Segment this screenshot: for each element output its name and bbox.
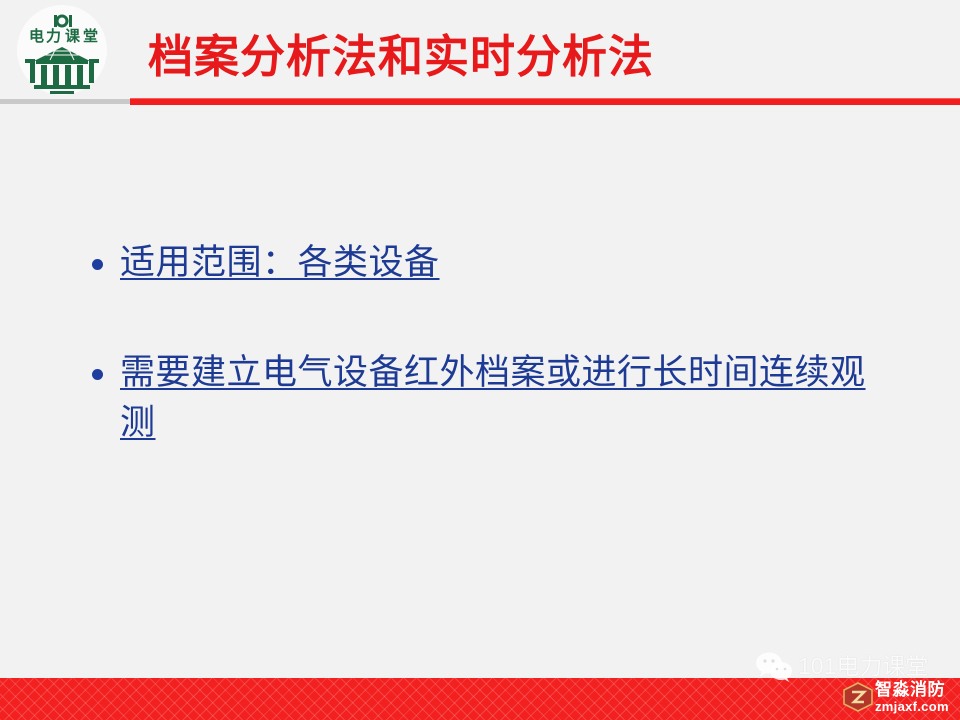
bullet-text-scope: 适用范围：各类设备 (120, 238, 440, 288)
watermark-channel-name: 101电力课堂 (798, 652, 928, 680)
list-item: 适用范围：各类设备 (92, 238, 440, 288)
slide-canvas: 电 力 课 堂 (0, 0, 960, 720)
zhimiao-logo-icon (843, 682, 873, 712)
course-logo: 电 力 课 堂 (12, 3, 112, 98)
svg-text:力: 力 (46, 27, 61, 45)
bullet-dot-icon (92, 259, 103, 270)
watermark-brand-name: 智淼消防 (875, 680, 945, 699)
bullet-text-requirement: 需要建立电气设备红外档案或进行长时间连续观测 (120, 348, 872, 448)
watermark-badge: 智淼消防 zmjaxf.com (843, 679, 960, 717)
header-divider-red (130, 98, 960, 105)
bullet-dot-icon (92, 369, 103, 380)
wechat-icon (755, 652, 793, 682)
footer-red-band (0, 678, 960, 720)
slide-header: 电 力 课 堂 (0, 0, 960, 110)
watermark-brand-url: zmjaxf.com (875, 699, 949, 714)
slide-body: 适用范围：各类设备 需要建立电气设备红外档案或进行长时间连续观测 (0, 110, 960, 678)
svg-text:电: 电 (29, 27, 44, 45)
emblem-icon: 电 力 课 堂 (12, 3, 112, 98)
svg-text:堂: 堂 (83, 27, 98, 45)
svg-text:课: 课 (65, 28, 81, 45)
page-title: 档案分析法和实时分析法 (148, 28, 654, 86)
list-item: 需要建立电气设备红外档案或进行长时间连续观测 (92, 348, 872, 448)
